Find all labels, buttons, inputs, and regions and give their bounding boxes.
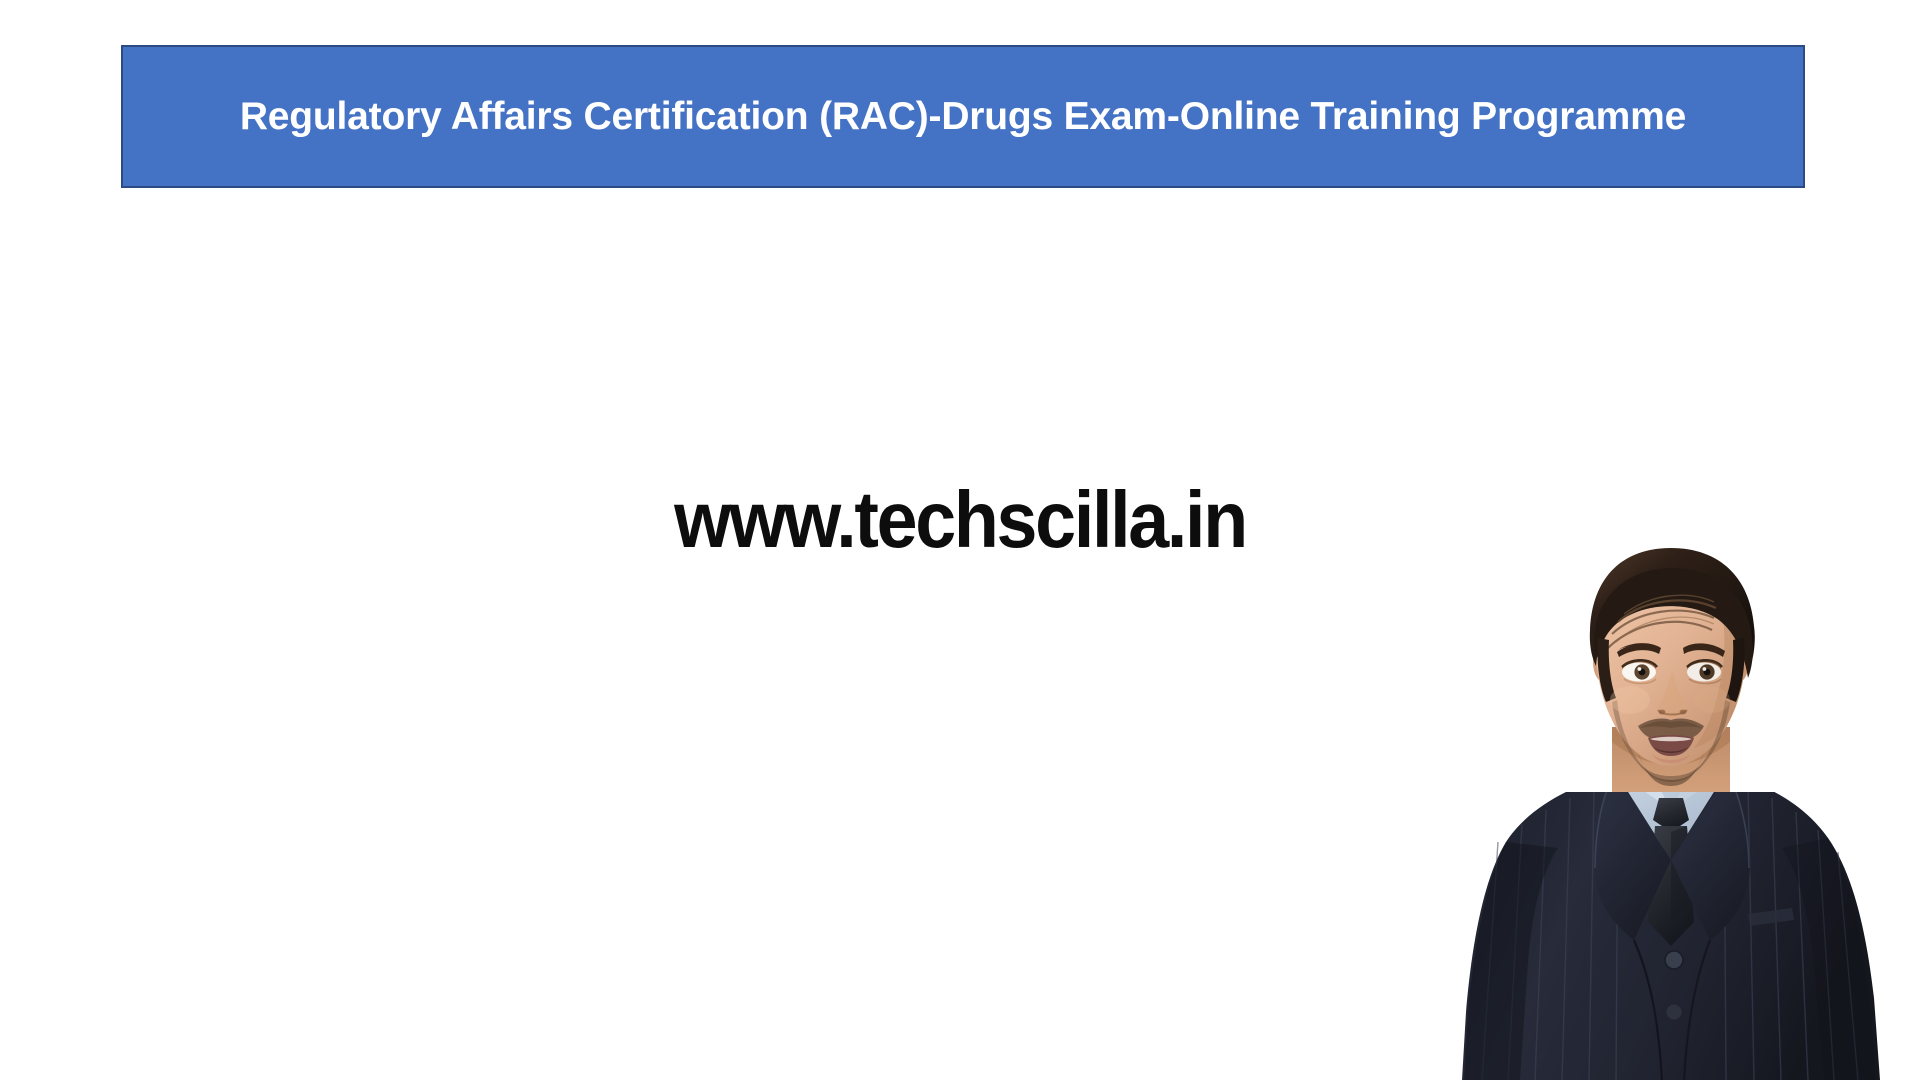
slide-canvas: Regulatory Affairs Certification (RAC)-D… (0, 0, 1920, 1080)
page-title: Regulatory Affairs Certification (RAC)-D… (240, 91, 1686, 142)
presenter-image (1462, 542, 1880, 1080)
title-banner: Regulatory Affairs Certification (RAC)-D… (121, 45, 1805, 188)
presenter-illustration (1462, 542, 1880, 1080)
